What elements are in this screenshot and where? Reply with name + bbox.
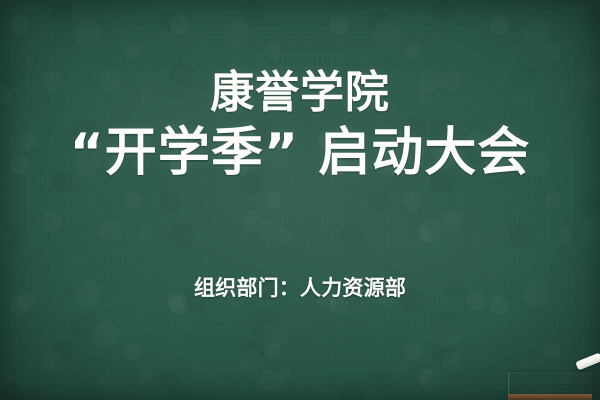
title-line-1: 康誉学院 (0, 64, 600, 122)
slide-subtitle: 组织部门：人力资源部 (0, 272, 600, 302)
slide-text-layer: 康誉学院 “开学季” 启动大会 组织部门：人力资源部 (0, 0, 600, 400)
slide-title: 康誉学院 “开学季” 启动大会 (0, 64, 600, 184)
chalk-ledge (508, 372, 592, 400)
chalkboard-slide: 康誉学院 “开学季” 启动大会 组织部门：人力资源部 (0, 0, 600, 400)
chalk-ledge-lip (508, 394, 592, 400)
title-line-2: “开学季” 启动大会 (0, 122, 600, 184)
